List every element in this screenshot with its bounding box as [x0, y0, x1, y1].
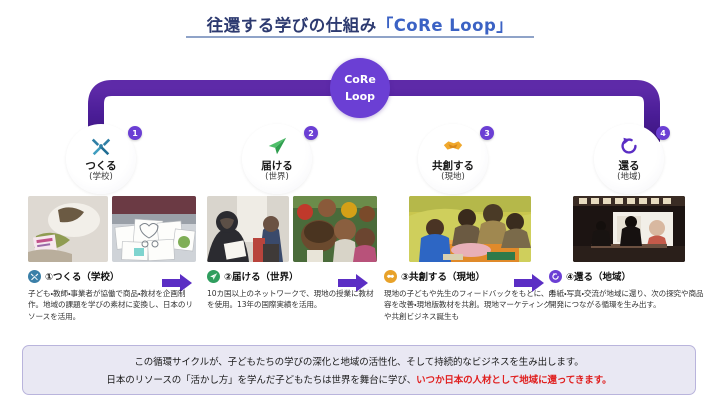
detail-group-tsukuru: ①つくる（学校） 子ども・教師・事業者が協働で商品・教材を企画制作。地域の課題を…: [28, 196, 196, 322]
photo-local-workshop[interactable]: [409, 196, 531, 262]
caption-body: 子ども・教師・事業者が協働で商品・教材を企画制作。地域の課題を学びの素材に変換し…: [28, 288, 196, 322]
caption-header: ③共創する（現地）: [384, 269, 556, 283]
photo-student-drawings[interactable]: [112, 196, 196, 262]
photo-row: [207, 196, 377, 262]
handshake-icon: [432, 135, 474, 157]
summary-line-2: 日本のリソースの「活かし方」を学んだ子どもたちは世界を舞台に学び、いつか日本の人…: [106, 372, 611, 386]
photo-classroom-teaching[interactable]: [207, 196, 289, 262]
page-title: 往還する学びの仕組み「CoRe Loop」: [0, 12, 720, 42]
tools-icon: [85, 135, 116, 157]
step-sublabel: (世界): [261, 173, 293, 183]
photo-presentation-stage[interactable]: [573, 196, 685, 262]
caption-header: ②届ける（世界）: [207, 269, 377, 283]
handshake-icon: [384, 270, 397, 283]
step-sublabel: (学校): [85, 173, 116, 183]
detail-group-kaeru: ④還る（地域） 手紙・写真・交流が地域に還り、次の探究や商品開発につながる循環を…: [549, 196, 709, 311]
flow-step-tsukuru[interactable]: 1 つくる (学校): [62, 124, 140, 194]
flow-step-kyosou[interactable]: 3 共創する (現地): [414, 124, 492, 194]
page-title-main: 往還する学びの仕組み: [207, 16, 377, 35]
step-number-badge: 2: [304, 126, 318, 140]
paper-plane-icon: [261, 135, 293, 157]
flow-steps: 1 つくる (学校) 2: [0, 124, 720, 194]
caption-body: 手紙・写真・交流が地域に還り、次の探究や商品開発につながる循環を生み出す。: [549, 288, 709, 311]
caption-header: ①つくる（学校）: [28, 269, 196, 283]
caption-title: ②届ける（世界）: [224, 269, 299, 283]
detail-group-kyosou: ③共創する（現地） 現地の子どもや先生のフィードバックをもとに、内容を改善・現地…: [384, 196, 556, 322]
step-label: 共創する: [432, 160, 474, 172]
paper-plane-icon: [207, 270, 220, 283]
caption-header: ④還る（地域）: [549, 269, 709, 283]
step-sublabel: (地域): [617, 173, 641, 183]
refresh-loop-icon: [617, 135, 641, 157]
caption-title: ①つくる（学校）: [45, 269, 119, 283]
tools-icon: [28, 270, 41, 283]
summary-line-2-plain: 日本のリソースの「活かし方」を学んだ子どもたちは世界を舞台に学び、: [106, 375, 416, 386]
caption-title: ④還る（地域）: [566, 269, 631, 283]
summary-line-2-highlight: いつか日本の人材として地域に還ってきます。: [416, 375, 611, 386]
summary-box: この循環サイクルが、子どもたちの学びの深化と地域の活性化、そして持続的なビジネス…: [22, 345, 696, 395]
flow-step-todokeru[interactable]: 2 届ける (世界): [238, 124, 316, 194]
step-label: 還る: [617, 160, 641, 172]
refresh-loop-icon: [549, 270, 562, 283]
detail-group-todokeru: ②届ける（世界） 10カ国以上のネットワークで、現地の授業に教材を使用。13年の…: [207, 196, 377, 311]
photo-row: [28, 196, 196, 262]
core-loop-badge-line2: Loop: [345, 88, 375, 105]
step-sublabel: (現地): [432, 173, 474, 183]
step-label: つくる: [85, 160, 116, 172]
page-title-accent: 「CoRe Loop」: [377, 16, 514, 35]
step-number-badge: 4: [656, 126, 670, 140]
title-underline: [186, 36, 534, 38]
core-loop-badge-line1: CoRe: [344, 71, 376, 88]
caption-body: 10カ国以上のネットワークで、現地の授業に教材を使用。13年の国際実績を活用。: [207, 288, 377, 311]
flow-step-kaeru[interactable]: 4 還る (地域): [590, 124, 668, 194]
step-number-badge: 3: [480, 126, 494, 140]
photo-row: [549, 196, 709, 262]
caption-body: 現地の子どもや先生のフィードバックをもとに、内容を改善・現地版教材を共創。現地マ…: [384, 288, 556, 322]
photo-row: [384, 196, 556, 262]
core-loop-badge: CoRe Loop: [330, 58, 390, 118]
detail-groups: ①つくる（学校） 子ども・教師・事業者が協働で商品・教材を企画制作。地域の課題を…: [0, 196, 720, 336]
summary-line-1: この循環サイクルが、子どもたちの学びの深化と地域の活性化、そして持続的なビジネス…: [134, 354, 583, 368]
photo-craft-products[interactable]: [28, 196, 108, 262]
slide-root: 往還する学びの仕組み「CoRe Loop」 CoRe Loop 1: [0, 0, 720, 405]
photo-children-group[interactable]: [293, 196, 377, 262]
step-number-badge: 1: [128, 126, 142, 140]
step-label: 届ける: [261, 160, 293, 172]
caption-title: ③共創する（現地）: [401, 269, 485, 283]
